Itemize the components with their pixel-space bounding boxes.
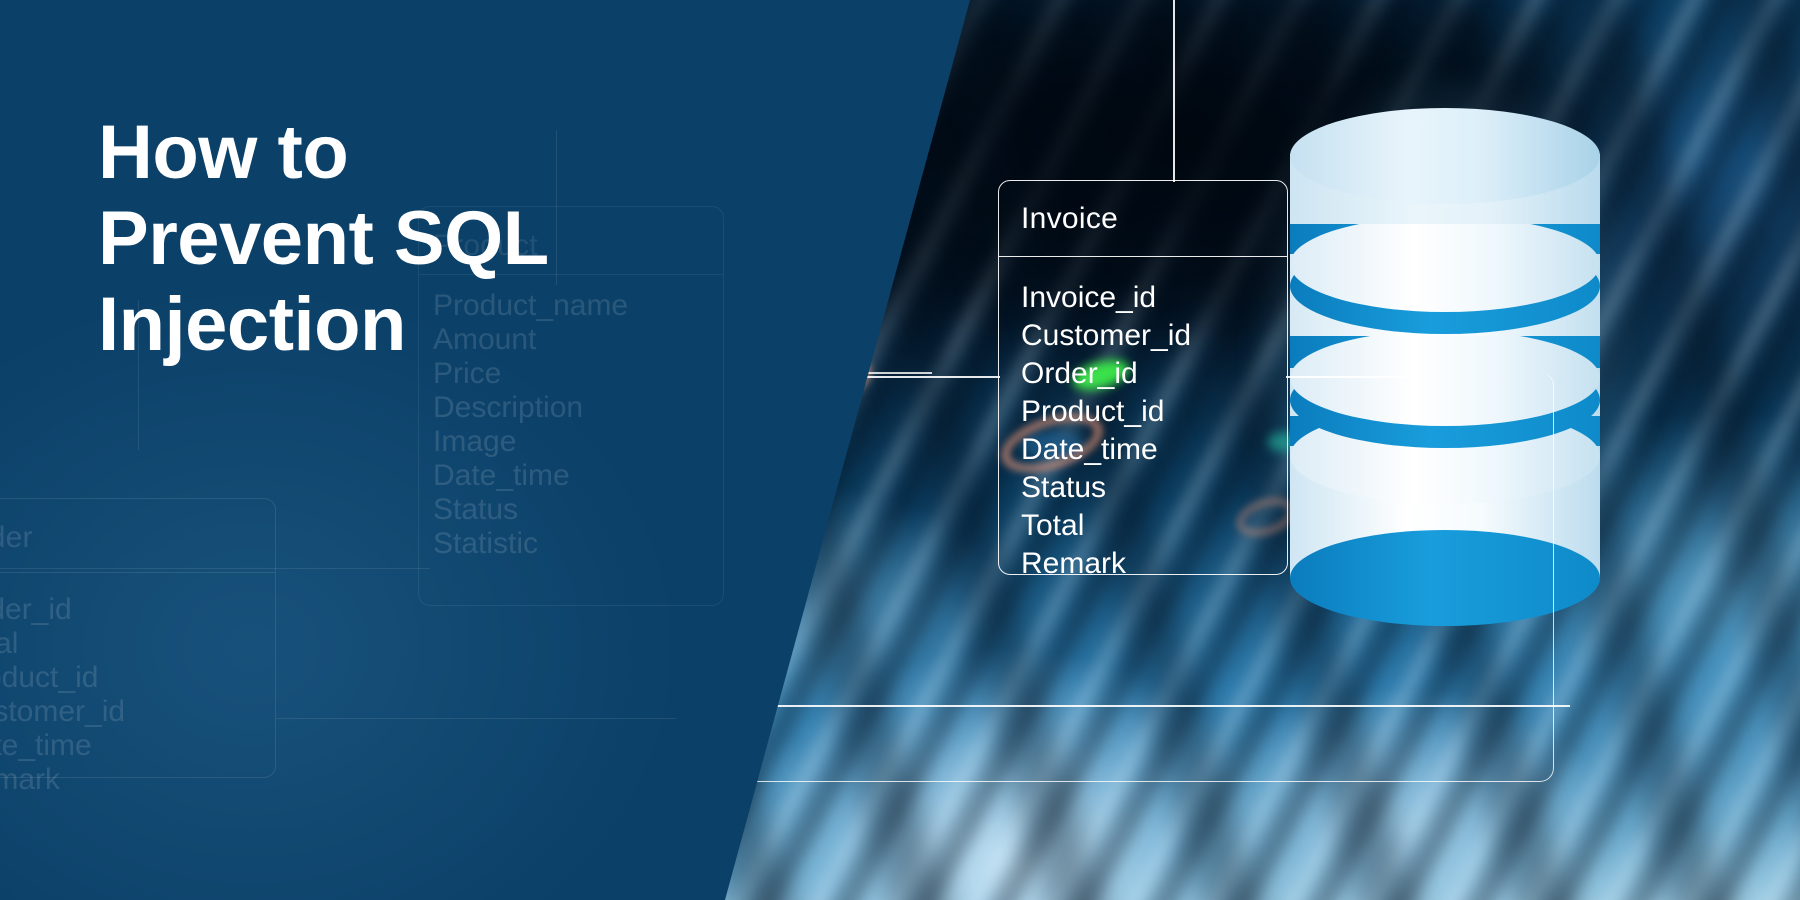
er-field: Date_time [1021,431,1287,469]
er-table-invoice-header: Invoice [999,181,1287,257]
er-field: Invoice_id [1021,279,1287,317]
er-field: Product_id [1021,393,1287,431]
hero-banner: Order Order_id Total Product_id Customer… [0,0,1800,900]
er-table-invoice: Invoice Invoice_id Customer_id Order_id … [998,180,1288,575]
er-field: Order_id [1021,355,1287,393]
er-table-invoice-title: Invoice [1021,202,1118,236]
er-field: Status [1021,469,1287,507]
page-title: How to Prevent SQL Injection [98,110,549,368]
database-cylinder-icon [1290,108,1600,578]
er-field: Customer_id [1021,317,1287,355]
er-field: Total [1021,507,1287,545]
er-field: Remark [1021,545,1287,583]
er-table-invoice-fields: Invoice_id Customer_id Order_id Product_… [999,257,1287,583]
